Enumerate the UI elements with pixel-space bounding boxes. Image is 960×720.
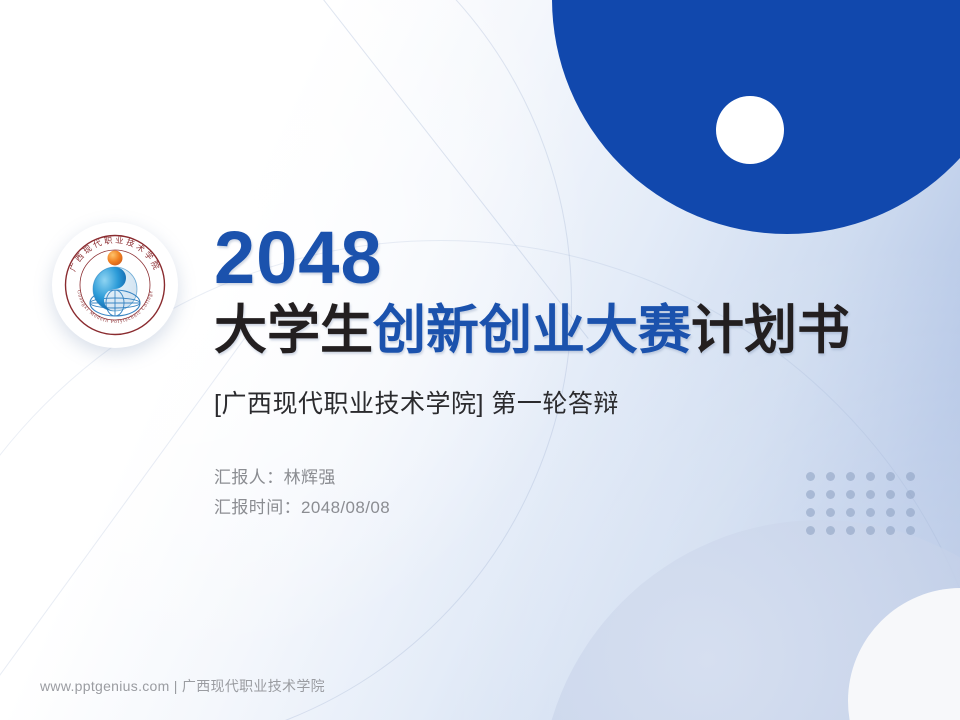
presentation-slide: 广西现代职业技术学院 Guangxi Modern Polytechnic Co… [0,0,960,720]
subtitle: [广西现代职业技术学院] 第一轮答辩 [214,384,914,420]
grid-dot [846,526,855,535]
presenter-name-line: 汇报人：林辉强 [214,463,914,493]
title-text-block: 2048 大学生创新创业大赛计划书 [广西现代职业技术学院] 第一轮答辩 汇报人… [214,222,914,522]
grid-dot [826,526,835,535]
decorative-soft-circle-bottom [540,520,960,720]
year-heading: 2048 [214,222,914,295]
presentation-date-line: 汇报时间：2048/08/08 [214,493,914,523]
grid-dot [806,526,815,535]
decorative-white-circle-bottom-right [848,588,960,720]
title-segment-dark-leading: 大学生 [214,301,373,360]
title-segment-accent: 创新创业大赛 [373,301,691,360]
grid-dot [886,526,895,535]
college-logo: 广西现代职业技术学院 Guangxi Modern Polytechnic Co… [52,222,178,348]
grid-dot [906,526,915,535]
decorative-white-dot [716,96,784,164]
page-title: 大学生创新创业大赛计划书 [214,301,914,360]
footer-credit: www.pptgenius.com | 广西现代职业技术学院 [40,676,325,696]
grid-dot [866,526,875,535]
title-segment-dark-trailing: 计划书 [691,301,850,360]
presenter-info: 汇报人：林辉强 汇报时间：2048/08/08 [214,463,914,523]
college-emblem-icon: 广西现代职业技术学院 Guangxi Modern Polytechnic Co… [61,231,169,339]
decorative-blue-circle-top-right [552,0,960,234]
